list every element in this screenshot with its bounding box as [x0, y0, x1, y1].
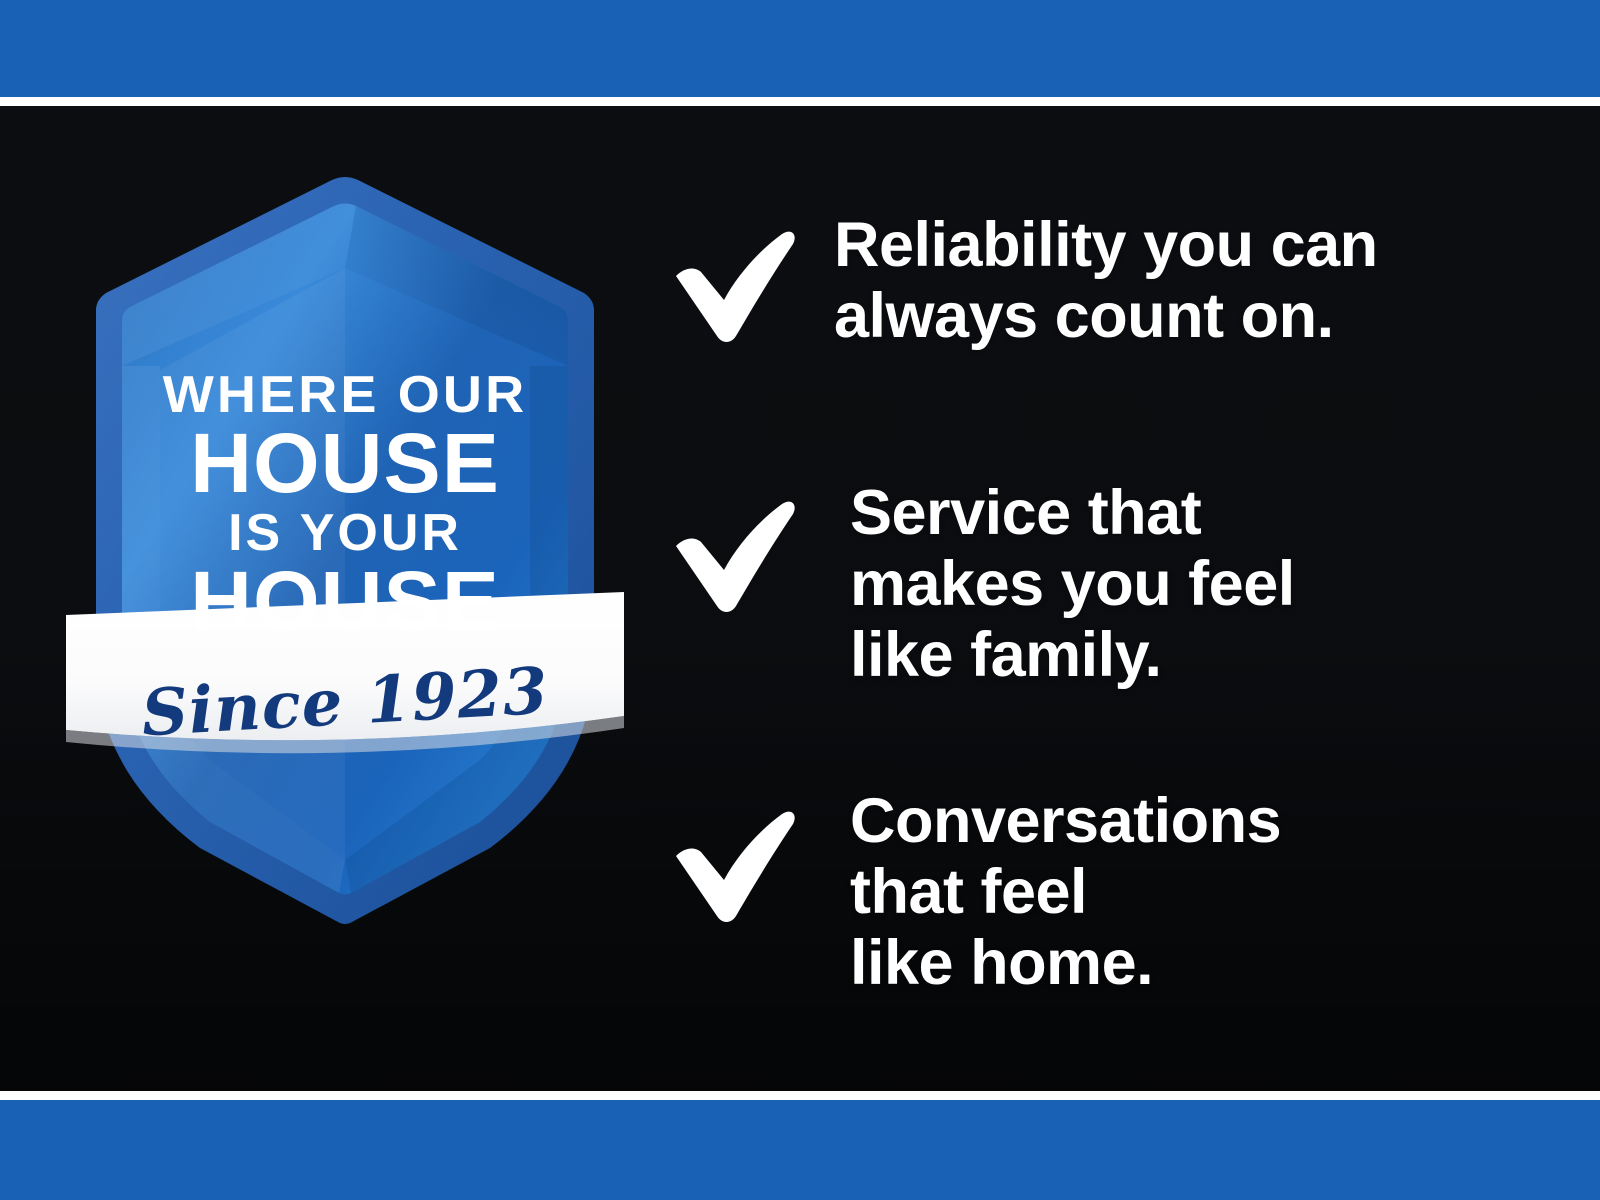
- benefits-list: Reliability you can always count on. Ser…: [660, 106, 1520, 1091]
- shield-emblem: WHERE OUR HOUSE IS YOUR HOUSE Since 1923: [60, 160, 630, 940]
- benefit-text: Reliability you can always count on.: [834, 210, 1378, 352]
- bottom-brand-bar: [0, 1100, 1600, 1200]
- benefit-item-conversations: Conversations that feel like home.: [660, 786, 1281, 1000]
- benefit-item-service: Service that makes you feel like family.: [660, 478, 1295, 692]
- ribbon-banner: [66, 592, 624, 740]
- bottom-white-divider: [0, 1091, 1600, 1100]
- top-white-divider: [0, 97, 1600, 106]
- check-icon: [660, 492, 800, 612]
- benefit-item-reliability: Reliability you can always count on.: [660, 210, 1378, 352]
- check-icon: [660, 802, 800, 922]
- top-brand-bar: [0, 0, 1600, 97]
- benefit-text: Conversations that feel like home.: [850, 786, 1281, 1000]
- shield-graphic: [60, 160, 630, 940]
- benefit-text: Service that makes you feel like family.: [850, 478, 1295, 692]
- check-icon: [660, 222, 800, 342]
- promo-poster: WHERE OUR HOUSE IS YOUR HOUSE Since 1923…: [0, 0, 1600, 1200]
